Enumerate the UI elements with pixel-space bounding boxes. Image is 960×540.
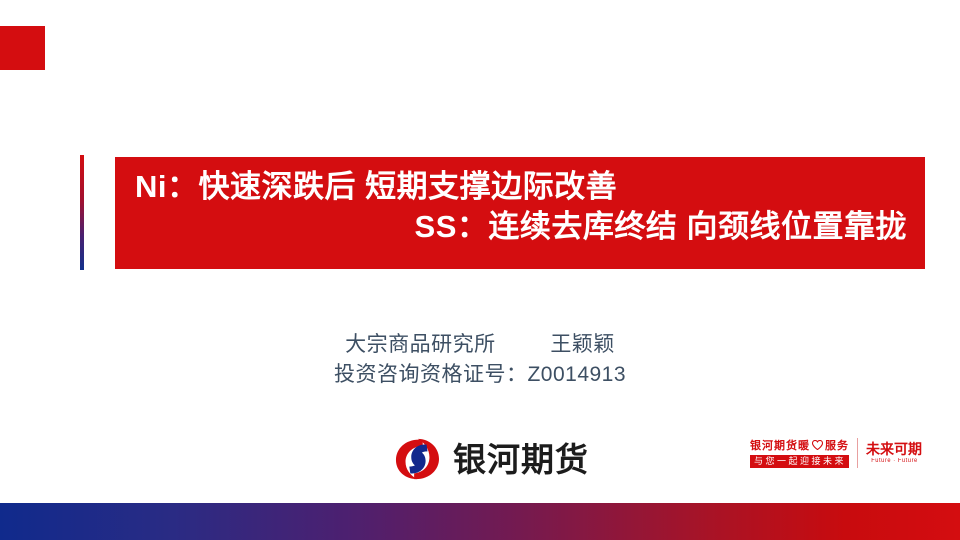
presenter-license-line: 投资咨询资格证号：Z0014913: [0, 360, 960, 390]
bottom-gradient-bar: [0, 503, 960, 540]
slogan-top-suffix: 服务: [825, 437, 849, 453]
slogan-divider: [857, 438, 858, 468]
title-line-ni: Ni：快速深跌后 短期支撑边际改善: [129, 167, 911, 207]
company-logo: 银河期货: [393, 437, 589, 481]
presenter-department: 大宗商品研究所: [345, 333, 496, 356]
slogan-top-line: 银河期货暖 服务: [750, 437, 849, 453]
presenter-block: 大宗商品研究所 王颖颖 投资咨询资格证号：Z0014913: [0, 330, 960, 391]
galaxy-futures-swirl-icon: [393, 437, 441, 481]
tagline-english: Future · Future: [871, 458, 918, 464]
slogan-top-text: 银河期货暖: [750, 437, 810, 453]
tagline-group: 未来可期 Future · Future: [866, 442, 922, 464]
slogan-band-text: 与您一起迎接未来: [750, 455, 849, 468]
heart-icon: [812, 440, 823, 450]
title-line-ss: SS：连续去库终结 向颈线位置靠拢: [129, 207, 911, 247]
title-accent-bar: [80, 155, 84, 270]
presentation-slide: Ni：快速深跌后 短期支撑边际改善 SS：连续去库终结 向颈线位置靠拢 大宗商品…: [0, 0, 960, 540]
presenter-analyst-name: 王颖颖: [550, 333, 615, 356]
tagline-chinese: 未来可期: [866, 442, 922, 457]
presenter-department-line: 大宗商品研究所 王颖颖: [0, 330, 960, 360]
company-name-text: 银河期货: [453, 443, 589, 476]
title-banner: Ni：快速深跌后 短期支撑边际改善 SS：连续去库终结 向颈线位置靠拢: [115, 157, 925, 269]
top-left-red-block: [0, 26, 45, 70]
slogan-left-group: 银河期货暖 服务 与您一起迎接未来: [750, 437, 849, 468]
service-slogan-lockup: 银河期货暖 服务 与您一起迎接未来 未来可期 Future · Future: [750, 437, 922, 468]
